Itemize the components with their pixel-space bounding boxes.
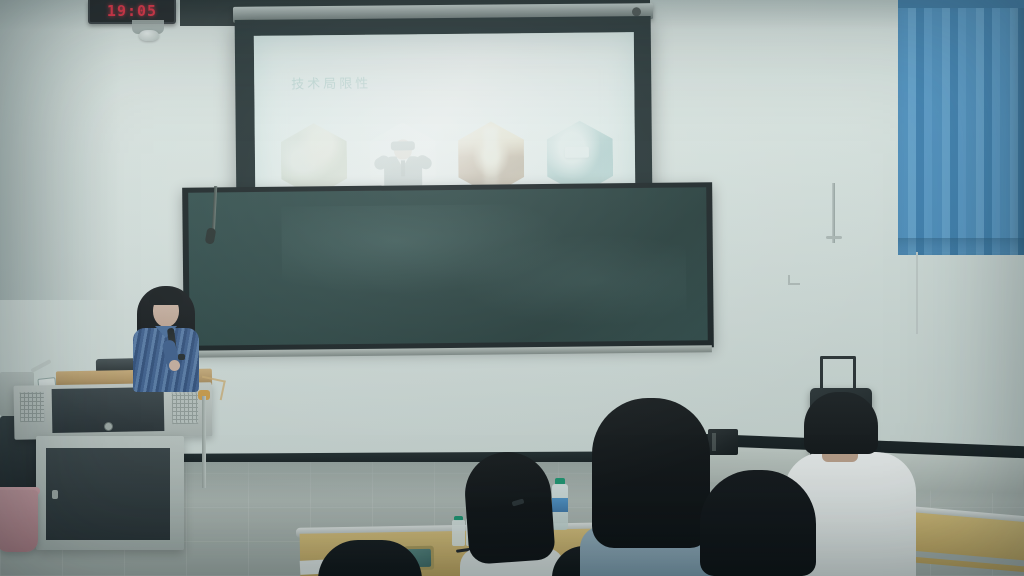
audience-person — [466, 452, 556, 576]
metal-pole — [202, 396, 206, 488]
podium-lower-panel — [46, 448, 170, 540]
bottle-body — [452, 520, 465, 546]
smoke-detector-icon — [139, 30, 159, 41]
audience-person — [592, 398, 714, 576]
podium-cabinet-lock-icon — [52, 490, 58, 499]
wall-left-shading — [0, 0, 120, 300]
water-bottle — [452, 516, 465, 546]
podium-speaker-grille-right — [172, 392, 199, 424]
pink-bucket — [0, 490, 38, 552]
podium-lock-icon — [104, 422, 113, 431]
presenter-fringe — [149, 288, 183, 305]
podium-speaker-grille-left — [20, 392, 45, 422]
blue-window-curtain — [898, 0, 1024, 255]
curtain-rod — [916, 252, 918, 334]
suitcase-handle-top — [820, 356, 856, 359]
curtain-hem — [898, 238, 1024, 252]
presenter-watch-icon — [178, 354, 185, 360]
housing-knob — [632, 7, 641, 16]
audience-person — [318, 540, 424, 576]
presenter-person — [129, 282, 203, 392]
curtain-rail — [898, 0, 1024, 8]
chalkboard-surface — [188, 187, 708, 345]
suitcase-handle-left — [820, 358, 823, 390]
chalk-smudge — [458, 233, 687, 327]
green-chalkboard — [182, 182, 714, 353]
clock-time-display: 19:05 — [107, 2, 157, 20]
suitcase-handle-right — [853, 358, 856, 390]
slide-title: 技术局限性 — [291, 73, 371, 93]
presenter-hand — [169, 360, 180, 371]
wall-conduit-pipe — [832, 183, 835, 243]
audience-person — [700, 470, 820, 576]
classroom-photo-scene: 19:05 技术局限性 色彩还原难度 传统颜料的色彩难以完美复原，现存技术虽可还… — [0, 0, 1024, 576]
wall-conduit-elbow — [826, 236, 842, 239]
wall-hook-icon — [788, 275, 800, 285]
